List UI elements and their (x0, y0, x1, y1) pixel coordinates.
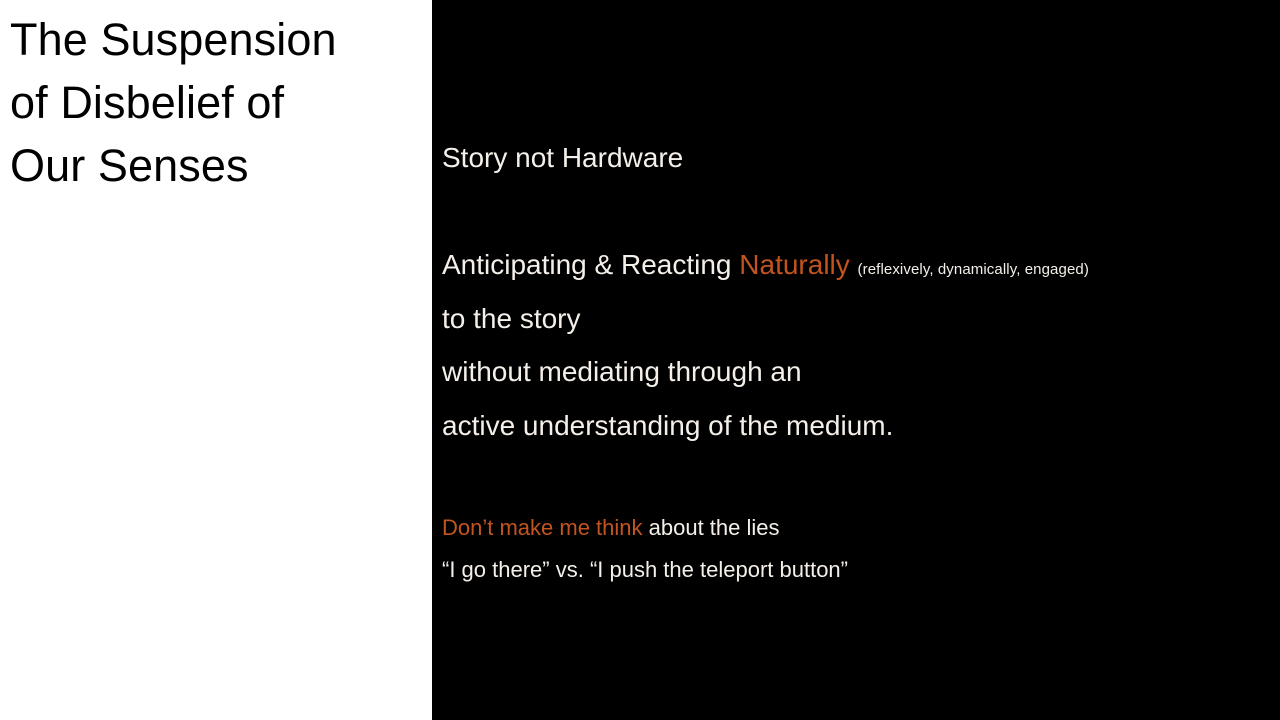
body-line-anticipating-gap (850, 249, 858, 280)
body-line-anticipating-accent: Naturally (739, 249, 849, 280)
body-line-anticipating-parenthetical: (reflexively, dynamically, engaged) (858, 261, 1089, 278)
body-line-anticipating-prefix: Anticipating & Reacting (442, 249, 739, 280)
content-panel: Story not Hardware Anticipating & Reacti… (432, 0, 1280, 720)
body-line-without-mediating: without mediating through an (442, 352, 802, 392)
body-line-active-understanding: active understanding of the medium. (442, 406, 893, 446)
body-text-block: Story not Hardware Anticipating & Reacti… (442, 0, 1280, 720)
footer-line-rest: about the lies (643, 515, 780, 540)
body-heading: Story not Hardware (442, 138, 683, 178)
slide: The Suspension of Disbelief of Our Sense… (0, 0, 1280, 720)
footer-line-accent: Don’t make me think (442, 515, 643, 540)
body-line-to-the-story: to the story (442, 299, 581, 339)
footer-line-dont-make-me-think: Don’t make me think about the lies (442, 512, 780, 544)
body-line-anticipating: Anticipating & Reacting Naturally (refle… (442, 245, 1089, 290)
slide-title: The Suspension of Disbelief of Our Sense… (10, 8, 420, 197)
footer-line-teleport-quote: “I go there” vs. “I push the teleport bu… (442, 554, 848, 586)
title-panel: The Suspension of Disbelief of Our Sense… (0, 0, 432, 720)
